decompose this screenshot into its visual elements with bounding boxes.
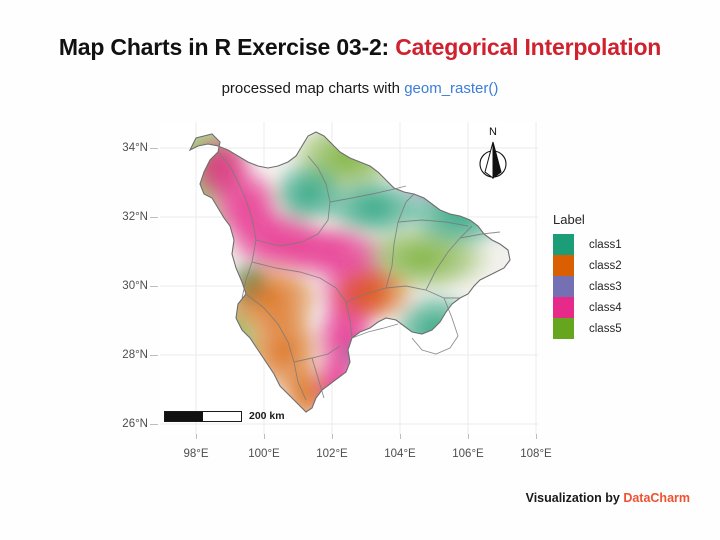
scale-bar-box xyxy=(164,411,242,422)
y-axis: 34°N 32°N 30°N 28°N 26°N xyxy=(118,122,160,434)
legend-label: class3 xyxy=(589,281,622,293)
legend-item-class4[interactable]: class4 xyxy=(553,297,622,318)
legend-swatch xyxy=(553,234,574,255)
x-tick-label: 98°E xyxy=(183,448,208,460)
map-legend: Label class1 class2 class3 class4 class5 xyxy=(553,212,622,339)
legend-label: class5 xyxy=(589,323,622,335)
x-tick-label: 108°E xyxy=(520,448,551,460)
legend-swatch xyxy=(553,255,574,276)
footer-credit: Visualization by DataCharm xyxy=(526,491,690,505)
footer-text: Visualization by xyxy=(526,491,620,505)
y-tick-label: 28°N xyxy=(122,349,148,361)
x-axis: 98°E 100°E 102°E 104°E 106°E 108°E xyxy=(160,434,538,464)
legend-title: Label xyxy=(553,212,622,227)
legend-swatch xyxy=(553,318,574,339)
north-arrow-label: N xyxy=(472,126,514,138)
page-title-main: Map Charts in R Exercise 03-2: xyxy=(59,34,389,60)
x-tick-label: 102°E xyxy=(316,448,347,460)
x-tick-label: 104°E xyxy=(384,448,415,460)
legend-item-class2[interactable]: class2 xyxy=(553,255,622,276)
legend-label: class4 xyxy=(589,302,622,314)
legend-swatch xyxy=(553,297,574,318)
scale-bar: 200 km xyxy=(164,410,285,422)
y-tick-label: 34°N xyxy=(122,142,148,154)
legend-item-class5[interactable]: class5 xyxy=(553,318,622,339)
legend-item-class3[interactable]: class3 xyxy=(553,276,622,297)
page-title-accent: Categorical Interpolation xyxy=(395,34,661,60)
north-arrow: N xyxy=(472,128,514,184)
slide-root: Map Charts in R Exercise 03-2: Categoric… xyxy=(0,0,720,540)
page-subtitle-text: processed map charts with xyxy=(222,80,400,97)
map-panel: 34°N 32°N 30°N 28°N 26°N xyxy=(118,122,538,434)
x-tick-label: 100°E xyxy=(248,448,279,460)
legend-label: class2 xyxy=(589,260,622,272)
y-tick-label: 30°N xyxy=(122,280,148,292)
legend-swatch xyxy=(553,276,574,297)
page-subtitle: processed map charts with geom_raster() xyxy=(0,80,720,97)
footer-brand: DataCharm xyxy=(623,491,690,505)
y-tick-label: 32°N xyxy=(122,211,148,223)
page-title: Map Charts in R Exercise 03-2: Categoric… xyxy=(0,34,720,61)
page-subtitle-code: geom_raster() xyxy=(404,80,498,97)
legend-item-class1[interactable]: class1 xyxy=(553,234,622,255)
x-tick-label: 106°E xyxy=(452,448,483,460)
y-tick-label: 26°N xyxy=(122,418,148,430)
legend-label: class1 xyxy=(589,239,622,251)
scale-bar-label: 200 km xyxy=(249,410,285,422)
